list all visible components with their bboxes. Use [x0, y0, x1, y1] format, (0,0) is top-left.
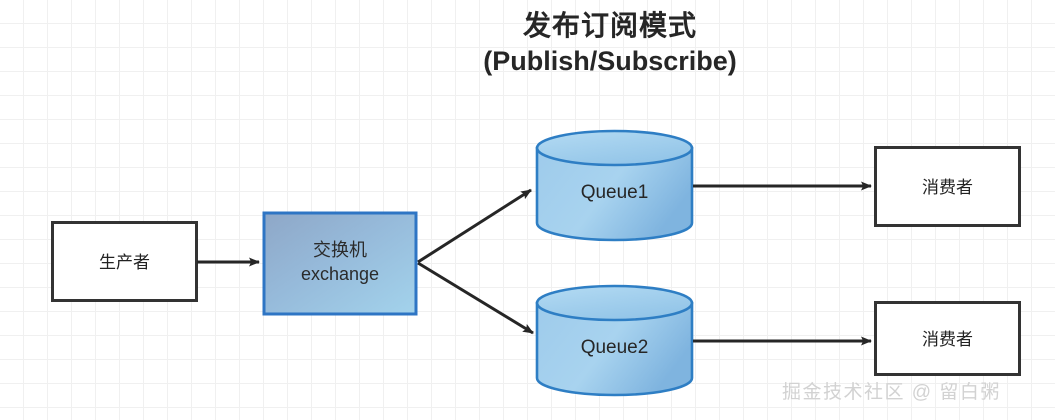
diagram-canvas: 发布订阅模式 (Publish/Subscribe) 生产者 交换机 excha…: [0, 0, 1055, 420]
consumer1-box: [876, 148, 1020, 226]
watermark-text: 掘金技术社区 @ 留白粥: [782, 377, 1001, 404]
arrow-exchange-to-queue2: [418, 263, 533, 333]
exchange-box: [264, 213, 416, 314]
queue2-cylinder: [537, 286, 692, 395]
queue1-cylinder: [537, 131, 692, 240]
diagram-title: 发布订阅模式 (Publish/Subscribe): [400, 8, 820, 78]
consumer2-box: [876, 303, 1020, 375]
title-line-cn: 发布订阅模式: [400, 8, 820, 44]
title-line-en: (Publish/Subscribe): [400, 44, 820, 79]
producer-box: [53, 223, 197, 301]
arrow-exchange-to-queue1: [418, 190, 531, 262]
